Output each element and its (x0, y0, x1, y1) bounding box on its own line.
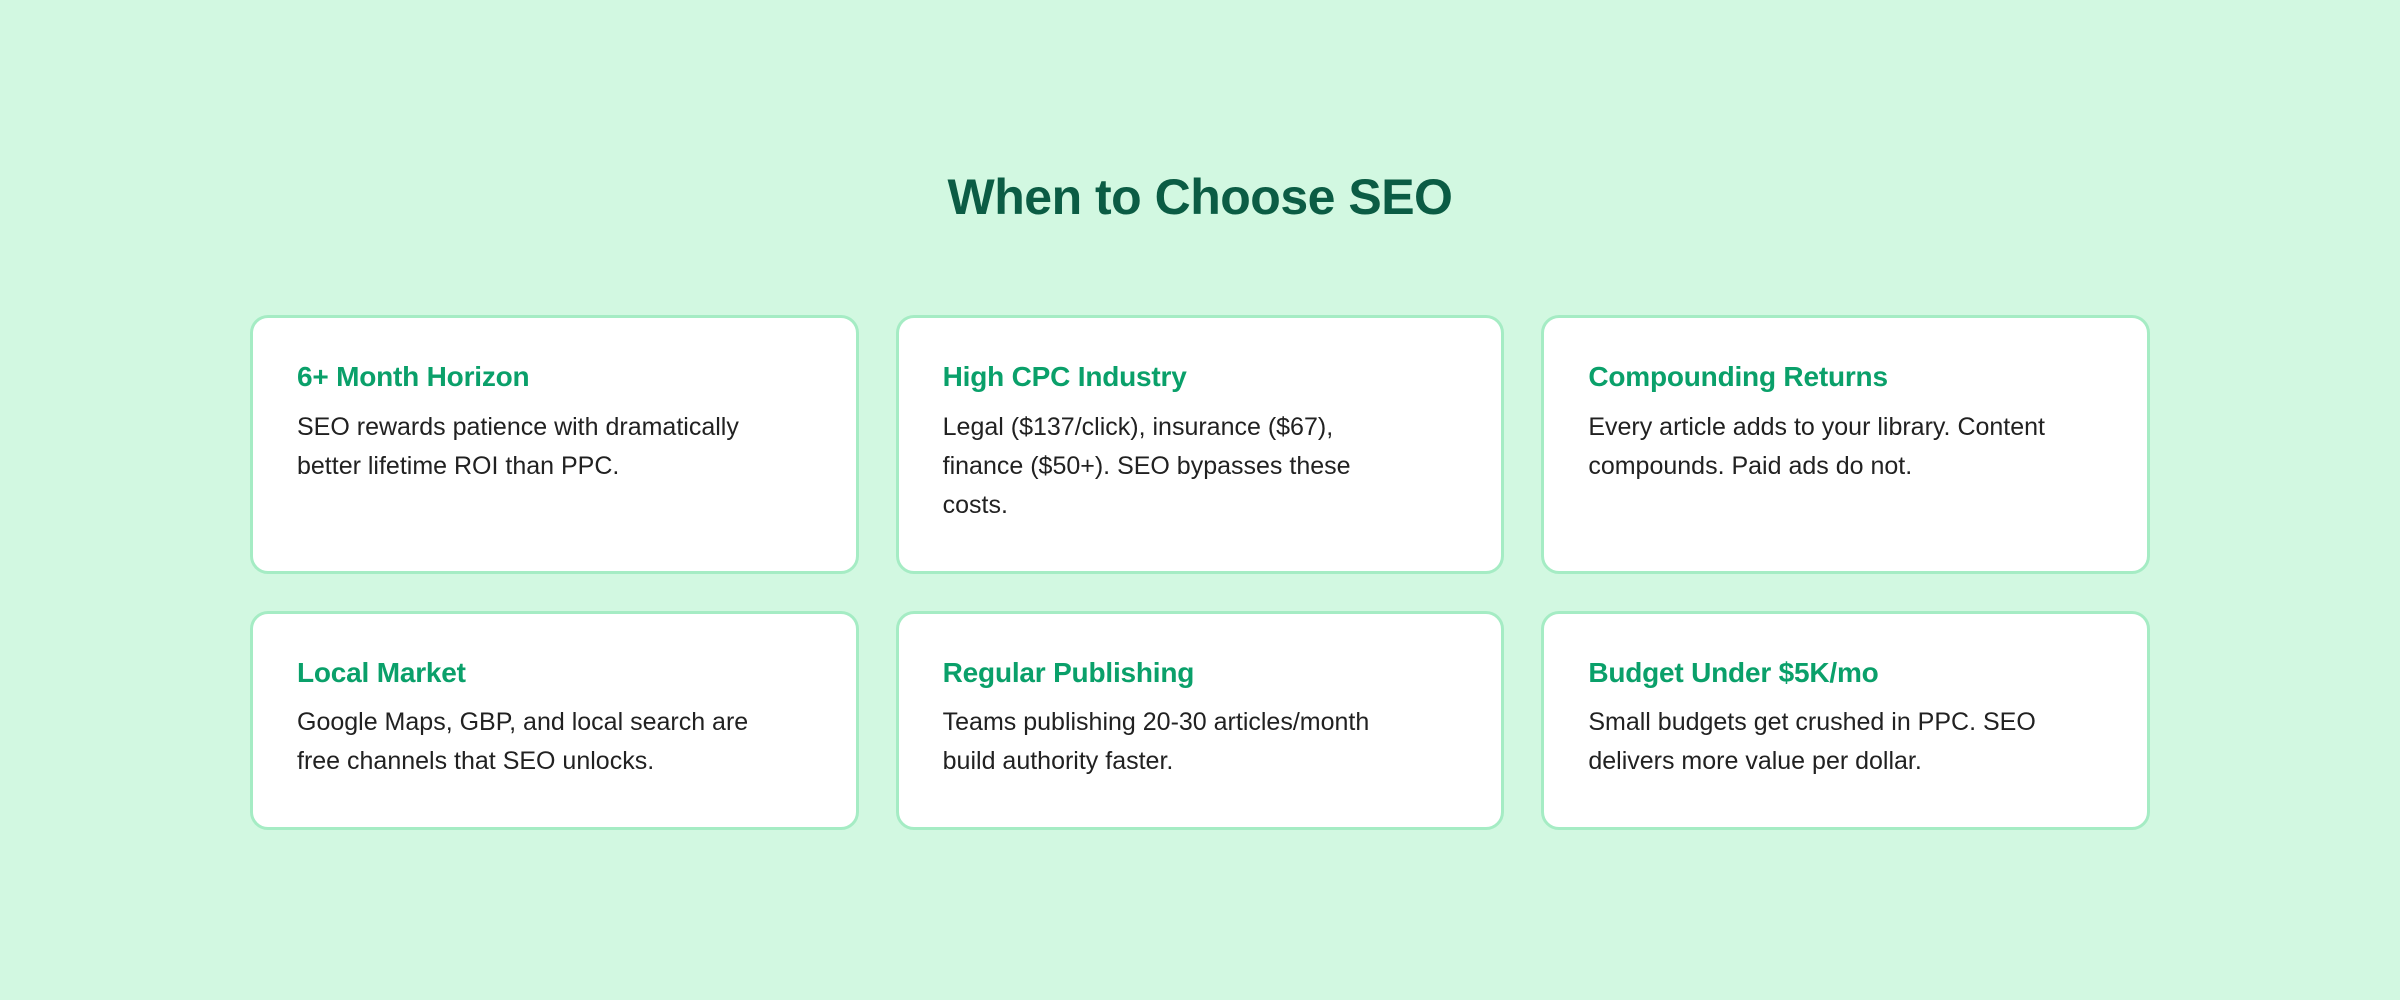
card-body: Every article adds to your library. Cont… (1588, 408, 2058, 486)
card-body: Legal ($137/click), insurance ($67), fin… (943, 408, 1413, 525)
reason-card-high-cpc-industry: High CPC Industry Legal ($137/click), in… (896, 315, 1505, 574)
reason-card-regular-publishing: Regular Publishing Teams publishing 20-3… (896, 611, 1505, 831)
card-title: Budget Under $5K/mo (1588, 656, 2103, 690)
reason-card-compounding-returns: Compounding Returns Every article adds t… (1541, 315, 2150, 574)
reason-card-grid: 6+ Month Horizon SEO rewards patience wi… (250, 315, 2150, 830)
card-title: Local Market (297, 656, 812, 690)
when-to-choose-seo-section: When to Choose SEO 6+ Month Horizon SEO … (0, 0, 2400, 1000)
page-title: When to Choose SEO (948, 172, 1453, 222)
card-title: Regular Publishing (943, 656, 1458, 690)
card-body: Small budgets get crushed in PPC. SEO de… (1588, 703, 2058, 781)
card-body: Google Maps, GBP, and local search are f… (297, 703, 767, 781)
card-title: High CPC Industry (943, 360, 1458, 394)
card-body: SEO rewards patience with dramatically b… (297, 408, 767, 486)
reason-card-6-month-horizon: 6+ Month Horizon SEO rewards patience wi… (250, 315, 859, 574)
card-body: Teams publishing 20-30 articles/month bu… (943, 703, 1413, 781)
card-title: Compounding Returns (1588, 360, 2103, 394)
reason-card-local-market: Local Market Google Maps, GBP, and local… (250, 611, 859, 831)
card-title: 6+ Month Horizon (297, 360, 812, 394)
reason-card-budget-under-5k: Budget Under $5K/mo Small budgets get cr… (1541, 611, 2150, 831)
